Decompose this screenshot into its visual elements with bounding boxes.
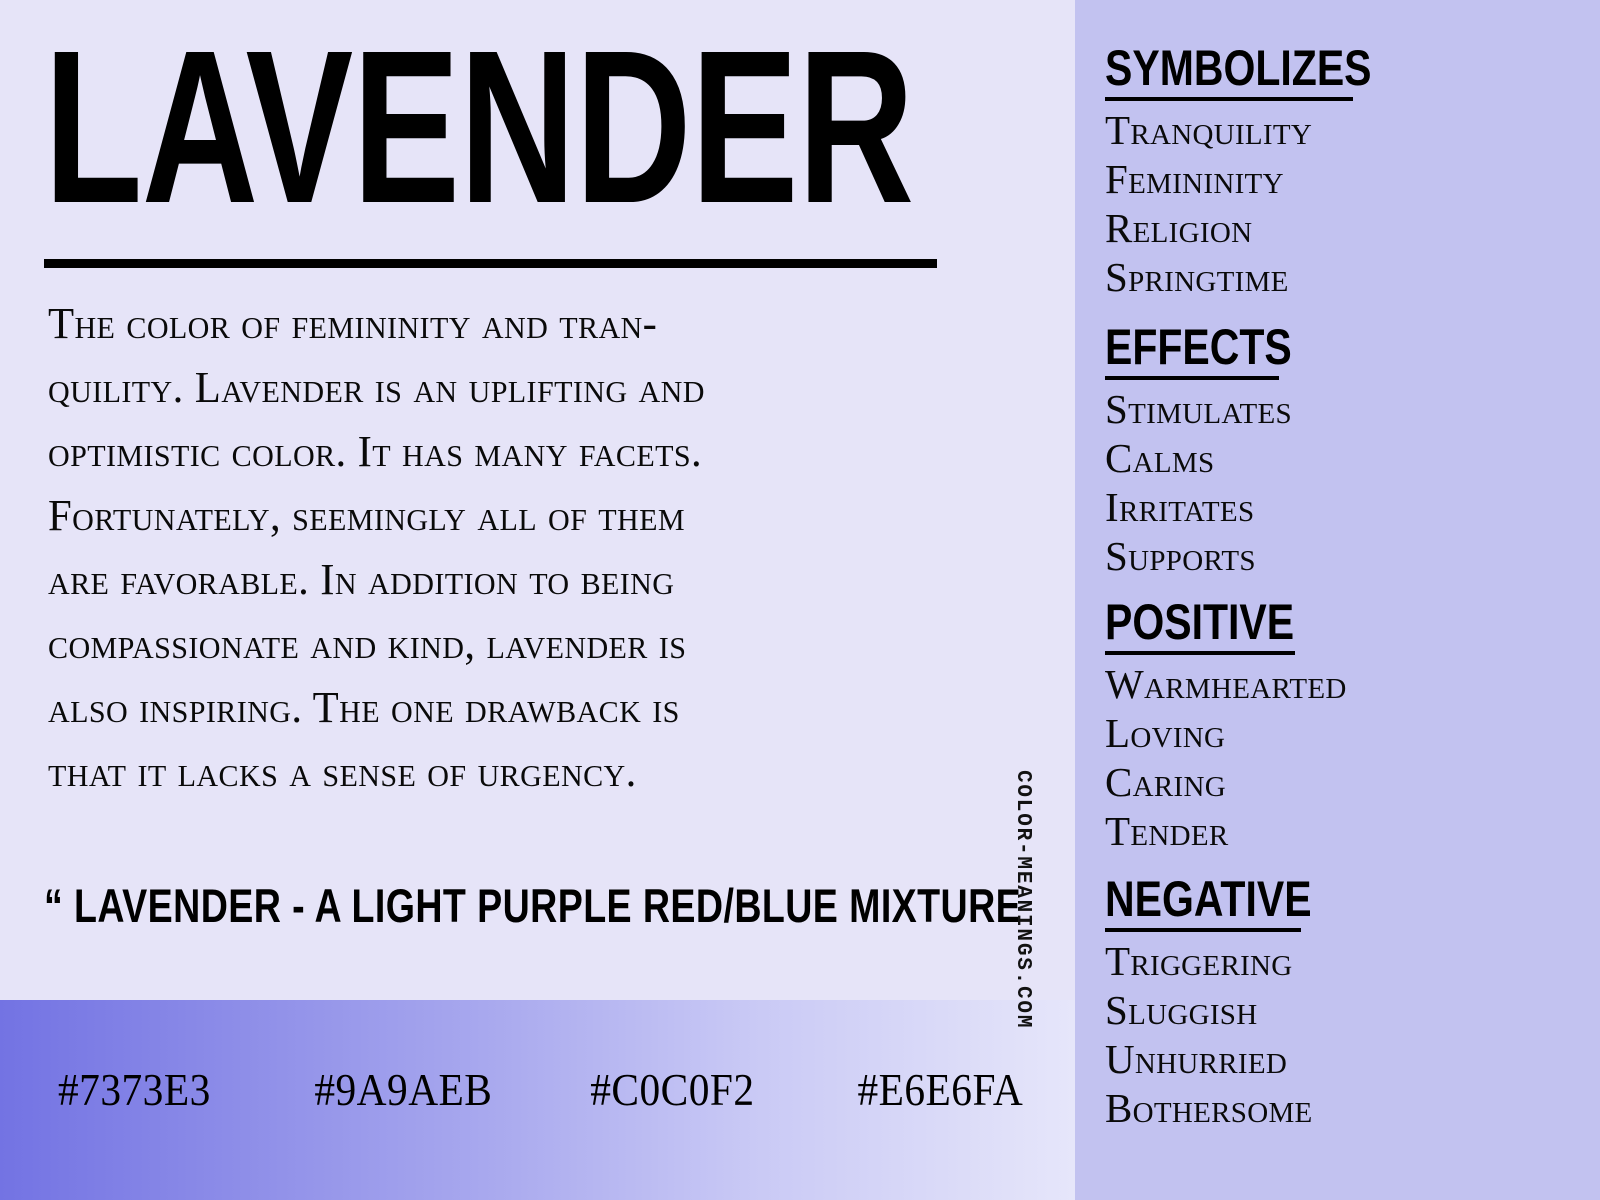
list-item: Triggering (1105, 937, 1405, 986)
section-underline (1105, 651, 1295, 655)
list-item: Stimulates (1105, 385, 1405, 434)
list-item: Warmhearted (1105, 660, 1405, 709)
section-list: Tranquility Femininity Religion Springti… (1105, 106, 1405, 302)
description-line: compassionate and kind, lavender is (48, 612, 970, 676)
attributes-panel: SYMBOLIZES Tranquility Femininity Religi… (1075, 0, 1600, 1200)
list-item: Unhurried (1105, 1035, 1405, 1084)
infographic-page: LAVENDER The color of femininity and tra… (0, 0, 1600, 1200)
list-item: Irritates (1105, 483, 1405, 532)
description-line: Fortunately, seemingly all of them (48, 484, 970, 548)
definition-quote: “ LAVENDER - A LIGHT PURPLE RED/BLUE MIX… (44, 882, 812, 929)
title-underline (44, 259, 937, 268)
section-list: Triggering Sluggish Unhurried Bothersome (1105, 937, 1405, 1133)
list-item: Bothersome (1105, 1084, 1405, 1133)
section-underline (1105, 928, 1301, 932)
list-item: Femininity (1105, 155, 1405, 204)
description-line: optimistic color. It has many facets. (48, 420, 970, 484)
description-line: are favorable. In addition to being (48, 548, 970, 612)
section-heading: NEGATIVE (1105, 875, 1351, 923)
list-item: Springtime (1105, 253, 1405, 302)
list-item: Tender (1105, 807, 1405, 856)
section-list: Stimulates Calms Irritates Supports (1105, 385, 1405, 581)
hex-code: #C0C0F2 (548, 1064, 795, 1116)
section-symbolizes: SYMBOLIZES Tranquility Femininity Religi… (1105, 44, 1405, 302)
list-item: Caring (1105, 758, 1405, 807)
description-line: The color of femininity and tran- (48, 292, 970, 356)
left-content-panel: LAVENDER The color of femininity and tra… (0, 0, 1075, 1200)
hex-code-row: #7373E3 #9A9AEB #C0C0F2 #E6E6FA (0, 1055, 1075, 1125)
list-item: Calms (1105, 434, 1405, 483)
list-item: Religion (1105, 204, 1405, 253)
list-item: Sluggish (1105, 986, 1405, 1035)
hex-code: #7373E3 (11, 1064, 258, 1116)
section-negative: NEGATIVE Triggering Sluggish Unhurried B… (1105, 875, 1405, 1133)
section-list: Warmhearted Loving Caring Tender (1105, 660, 1405, 856)
page-title: LAVENDER (44, 28, 703, 229)
section-underline (1105, 97, 1353, 101)
section-heading: SYMBOLIZES (1105, 44, 1351, 92)
description-line: quility. Lavender is an uplifting and (48, 356, 970, 420)
section-effects: EFFECTS Stimulates Calms Irritates Suppo… (1105, 323, 1405, 581)
hex-code: #9A9AEB (280, 1064, 527, 1116)
site-watermark: COLOR-MEANINGS.COM (1011, 770, 1034, 1029)
description-paragraph: The color of femininity and tran- quilit… (48, 292, 998, 804)
list-item: Loving (1105, 709, 1405, 758)
description-line: also inspiring. The one drawback is (48, 676, 970, 740)
hex-code: #E6E6FA (817, 1064, 1064, 1116)
section-positive: POSITIVE Warmhearted Loving Caring Tende… (1105, 598, 1405, 856)
section-heading: EFFECTS (1105, 323, 1351, 371)
section-underline (1105, 376, 1279, 380)
list-item: Tranquility (1105, 106, 1405, 155)
section-heading: POSITIVE (1105, 598, 1351, 646)
list-item: Supports (1105, 532, 1405, 581)
description-line: that it lacks a sense of urgency. (48, 740, 970, 804)
